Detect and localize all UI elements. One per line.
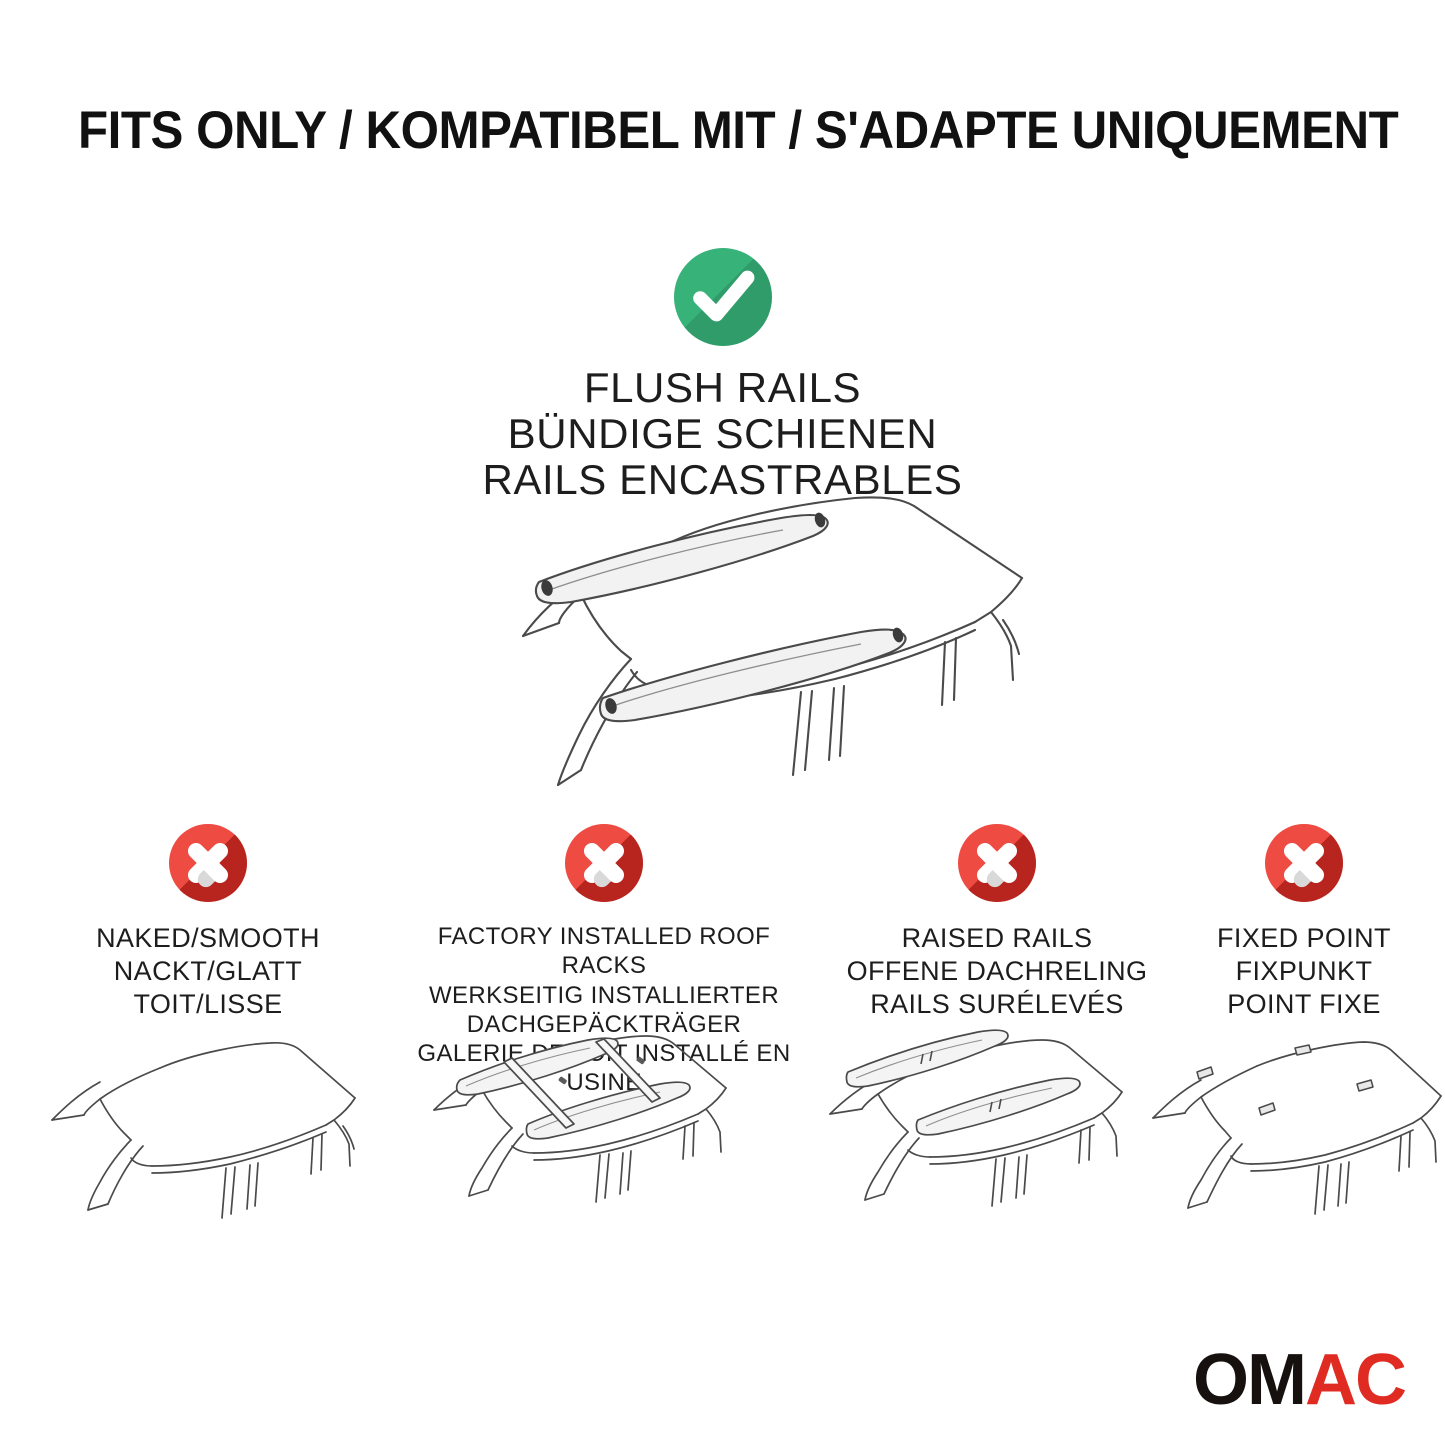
logo-text-om: OM	[1193, 1344, 1305, 1416]
incompatible-label: NAKED/SMOOTH NACKT/GLATT TOIT/LISSE	[96, 922, 320, 1021]
label-line-de: NACKT/GLATT	[96, 955, 320, 988]
label-line-de: FIXPUNKT	[1217, 955, 1391, 988]
logo-text-ac: AC	[1305, 1344, 1405, 1416]
car-roof-factory-installed-racks-illustration	[408, 1006, 758, 1206]
car-roof-naked-smooth-illustration	[30, 1026, 380, 1226]
page-title: FITS ONLY / KOMPATIBEL MIT / S'ADAPTE UN…	[78, 104, 1287, 157]
label-line-de: OFFENE DACHRELING	[847, 955, 1148, 988]
check-mark	[674, 248, 772, 346]
label-line-en: NAKED/SMOOTH	[96, 922, 320, 955]
incompatible-label: RAISED RAILS OFFENE DACHRELING RAILS SUR…	[847, 922, 1148, 1021]
label-line-en: FACTORY INSTALLED ROOF RACKS	[394, 922, 814, 981]
label-line-fr: POINT FIXE	[1217, 988, 1391, 1021]
compatible-section: FLUSH RAILS BÜNDIGE SCHIENEN RAILS ENCAS…	[0, 248, 1445, 504]
label-line-en: RAISED RAILS	[847, 922, 1148, 955]
car-roof-with-flush-rails-illustration	[415, 470, 1055, 800]
red-x-circle-icon	[958, 824, 1036, 902]
compatible-label-line-de: BÜNDIGE SCHIENEN	[0, 411, 1445, 457]
incompatible-label: FIXED POINT FIXPUNKT POINT FIXE	[1217, 922, 1391, 1021]
label-line-en: FIXED POINT	[1217, 922, 1391, 955]
check-stroke-long	[706, 268, 757, 324]
omac-logo: OM AC	[1193, 1343, 1405, 1417]
green-check-circle-icon	[674, 248, 772, 346]
red-x-circle-icon	[1265, 824, 1343, 902]
car-roof-raised-rails-illustration	[806, 1008, 1156, 1208]
red-x-circle-icon	[169, 824, 247, 902]
label-line-fr: TOIT/LISSE	[96, 988, 320, 1021]
car-roof-fixed-point-illustration	[1135, 1026, 1445, 1226]
compatibility-infographic: FITS ONLY / KOMPATIBEL MIT / S'ADAPTE UN…	[0, 0, 1445, 1445]
compatible-label-line-en: FLUSH RAILS	[0, 365, 1445, 411]
red-x-circle-icon	[565, 824, 643, 902]
